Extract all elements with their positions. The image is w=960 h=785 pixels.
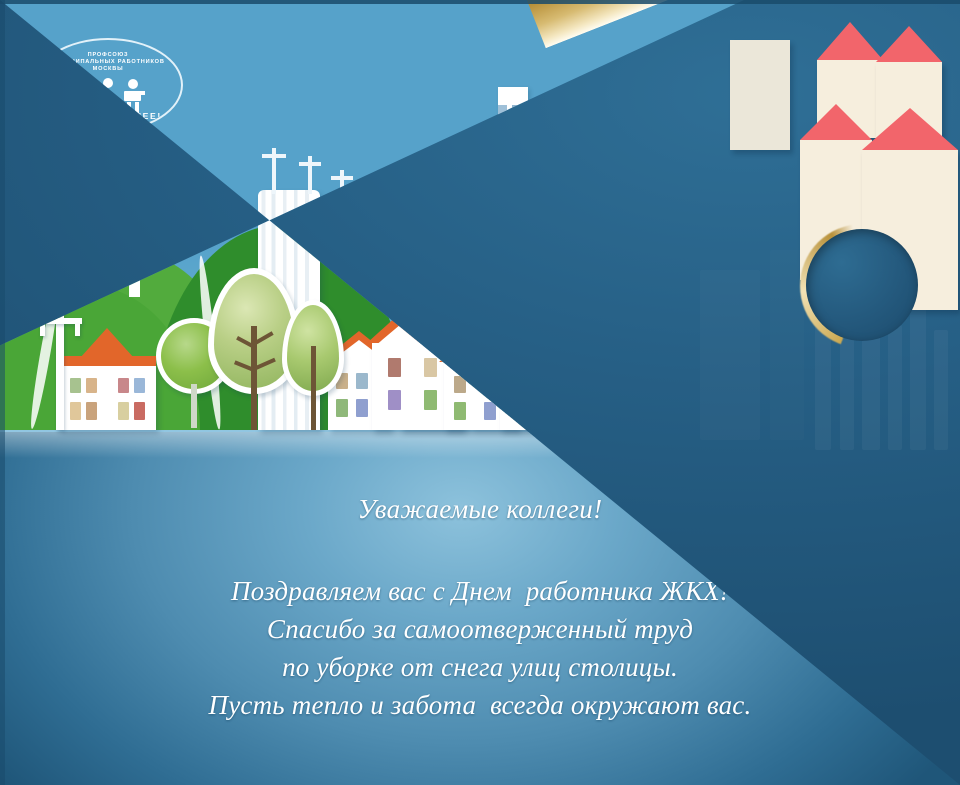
roof-red-4	[862, 108, 958, 150]
antenna-arm-1	[262, 154, 286, 158]
frame-left-edge	[0, 0, 5, 785]
building-red-roof-4	[862, 150, 958, 310]
roof-red-2	[876, 26, 942, 62]
antenna-arm-2	[299, 162, 321, 166]
message-line-4: Пусть тепло и забота всегда окружают вас…	[0, 686, 960, 724]
tree-leaf-left-small	[282, 300, 344, 430]
building-plain-right	[730, 40, 790, 150]
roof-red-1	[817, 22, 883, 60]
greeting-card: ПРОФСОЮЗ МУНИЦИПАЛЬНЫХ РАБОТНИКОВ МОСКВЫ	[0, 0, 960, 785]
frame-top-edge	[0, 0, 960, 4]
antenna-arm-3	[331, 176, 353, 180]
